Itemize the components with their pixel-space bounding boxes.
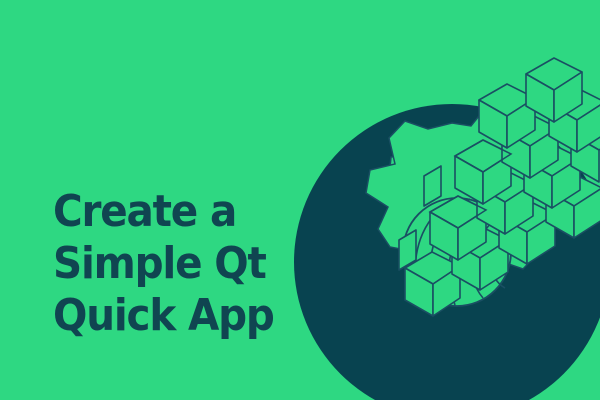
title-line-1: Create a (53, 186, 283, 238)
title-line-3: Quick App (53, 290, 283, 342)
banner-canvas: Create a Simple Qt Quick App (0, 0, 600, 400)
title-line-2: Simple Qt (53, 238, 283, 290)
page-title: Create a Simple Qt Quick App (53, 186, 303, 342)
